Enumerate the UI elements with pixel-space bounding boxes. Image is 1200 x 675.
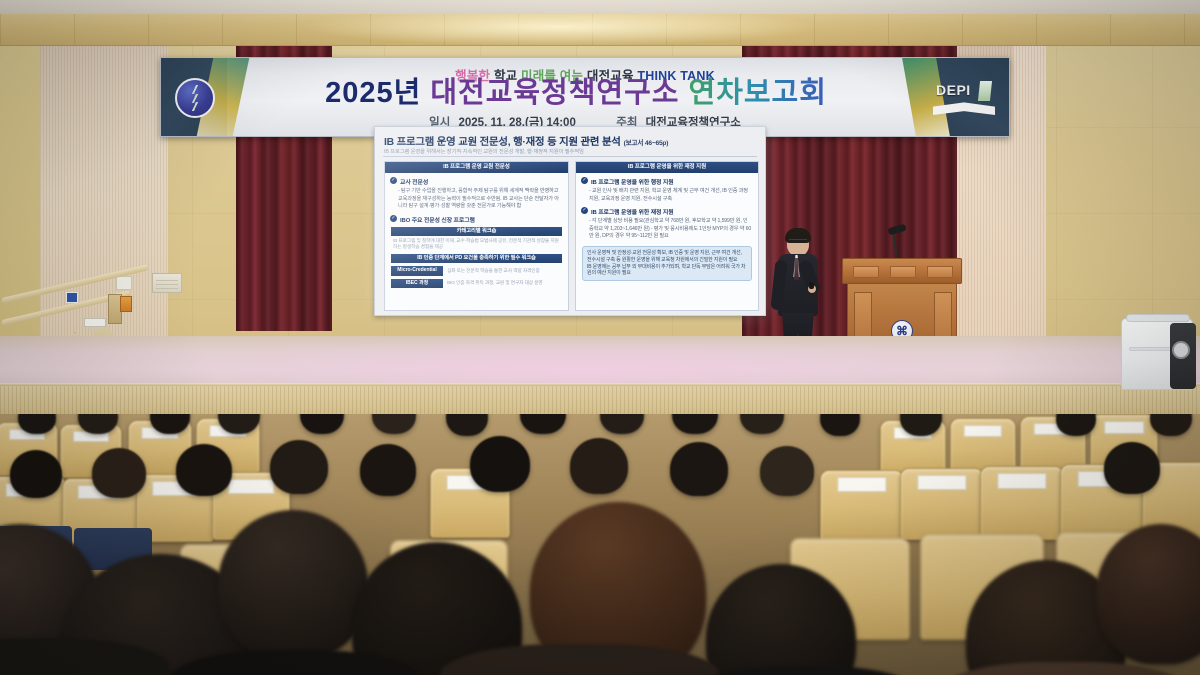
event-banner: DEPI 행복한 학교 미래를 여는 대전교육 THINK TANK 2025년… — [160, 57, 1010, 137]
slide-left-row-2: IBEC 과정 IBO 인증 자격 취득 과정, 교원 및 연구자 대상 운영 — [385, 276, 568, 289]
attendee-head — [672, 414, 718, 434]
attendee-head — [740, 414, 784, 434]
seat-name-card — [997, 473, 1046, 489]
attendee-head — [670, 442, 728, 496]
slide-divider — [383, 156, 757, 157]
purifier-top — [1126, 314, 1190, 322]
open-book-icon — [933, 101, 995, 115]
slide-right-item-1-body: - 교원 인사 및 배치 관련 지원, 학교 운영 체계 및 근무 여건 개선,… — [576, 186, 758, 203]
banner-main-title: 2025년 대전교육정책연구소 연차보고회 — [227, 76, 925, 110]
seat-name-card — [964, 425, 1002, 437]
slide-right-column: IB 프로그램 운영을 위한 재정 지원 ✓ IB 프로그램 운영을 위한 행정… — [575, 161, 759, 311]
slide-left-item-1: ✓ 교사 전문성 — [385, 173, 568, 186]
attendee-head — [1104, 442, 1160, 494]
check-icon: ✓ — [581, 207, 588, 214]
glasses-icon — [789, 239, 807, 243]
check-icon: ✓ — [390, 215, 397, 222]
attendee-head — [270, 440, 328, 494]
attendee-head — [92, 448, 146, 498]
slide-left-row-1-desc: 심화 또는 전문적 학습을 통한 교사 역량 자격인증 — [447, 266, 562, 274]
slide-left-header: IB 프로그램 운영 교원 전문성 — [385, 162, 568, 173]
auditorium-scene: DEPI 행복한 학교 미래를 여는 대전교육 THINK TANK 2025년… — [0, 0, 1200, 675]
slide-right-item-2-heading: IB 프로그램 운영을 위한 재정 지원 — [591, 207, 674, 216]
seat[interactable] — [900, 468, 984, 540]
projection-screen: IB 프로그램 운영 교원 전문성, 행·재정 등 지원 관련 분석(보고서 4… — [374, 126, 766, 316]
attendee-head — [176, 444, 232, 496]
depi-logo-text: DEPI — [936, 82, 971, 98]
slide-left-tag-1: 카테고리별 워크숍 IB 프로그램 및 철학에 대한 이해, 교수·학습법 모범… — [385, 224, 568, 251]
slide-left-item-2-heading: IBO 주요 전문성 신장 프로그램 — [400, 215, 475, 224]
accessibility-sign-icon — [66, 292, 78, 303]
attendee-head — [372, 414, 416, 434]
air-purifier-unit — [1121, 318, 1193, 390]
daejeon-education-seal-icon — [175, 78, 215, 118]
seat-name-card — [917, 475, 966, 490]
slide-left-tag-2: IB 인증 단계에서 PD 요건을 충족하기 위한 필수 워크숍 — [385, 251, 568, 264]
book-page-icon — [978, 81, 992, 101]
slide-right-item-2: ✓ IB 프로그램 운영을 위한 재정 지원 — [576, 203, 758, 216]
attendee-head — [300, 414, 344, 434]
seat-name-card — [837, 477, 886, 492]
slide-left-row-2-label: IBEC 과정 — [391, 279, 443, 289]
slide-left-item-2: ✓ IBO 주요 전문성 신장 프로그램 — [385, 211, 568, 224]
seat[interactable] — [820, 470, 904, 542]
check-icon: ✓ — [390, 177, 397, 184]
slide-left-item-1-heading: 교사 전문성 — [400, 177, 428, 186]
banner-title-org: 대전교육정책연구소 — [430, 77, 679, 109]
slide-title: IB 프로그램 운영 교원 전문성, 행·재정 등 지원 관련 분석(보고서 4… — [384, 133, 757, 148]
slide-right-callout-line-1: 인사 운영적 및 안정성·교원 전문성 확보, IB 인증 및 운영 지원, 근… — [587, 250, 747, 264]
slide-right-item-1: ✓ IB 프로그램 운영을 위한 행정 지원 — [576, 173, 758, 186]
slide-title-reference: (보고서 46~65p) — [624, 140, 669, 147]
lift-instruction-label — [84, 318, 106, 327]
podium-top-panel — [853, 266, 879, 278]
slide-subtitle: IB 프로그램 운영을 위해서는 장기적·지속적인 교원의 전문성 개발, 행·… — [384, 147, 757, 155]
wall-vent — [152, 273, 182, 293]
slide-left-tag-1-label: 카테고리별 워크숍 — [391, 227, 562, 237]
banner-title-year: 2025년 — [325, 77, 421, 109]
attendee-head-foreground — [218, 510, 368, 660]
purifier-vent-slot — [1129, 347, 1173, 351]
slide-left-item-1-body: - 탐구 기반 수업을 진행하고, 융합적 주제 탐구를 위해 세계적 맥락을 … — [385, 186, 568, 211]
attendee-head — [520, 414, 566, 434]
seat-name-card — [228, 479, 274, 494]
attendee-head — [760, 446, 814, 496]
check-icon: ✓ — [581, 177, 588, 184]
podium-top-panel — [890, 266, 916, 278]
left-panel-shadow — [40, 46, 168, 236]
slide-right-item-2-body: - 각 단계별 상당 비용 필요(관심학교 약 768만 원, 후보학교 약 1… — [576, 216, 758, 241]
attendee-head — [570, 438, 628, 494]
slide-left-row-2-desc: IBO 인증 자격 취득 과정, 교원 및 연구자 대상 운영 — [447, 279, 562, 287]
slide-left-column: IB 프로그램 운영 교원 전문성 ✓ 교사 전문성 - 탐구 기반 수업을 진… — [384, 161, 569, 311]
slide-right-callout: 인사 운영적 및 안정성·교원 전문성 확보, IB 인증 및 운영 지원, 근… — [582, 246, 752, 281]
attendee-head — [820, 414, 860, 436]
podium-top-panel — [927, 266, 953, 278]
presentation-clicker-icon — [809, 282, 814, 289]
lift-control-panel[interactable] — [120, 296, 132, 312]
attendee-head — [600, 414, 644, 434]
slide-left-row-1-label: Micro-Credential — [391, 266, 443, 276]
seat[interactable] — [980, 466, 1064, 540]
slide-left-tag-1-desc: IB 프로그램 및 철학에 대한 이해, 교수·학습법 모범사례 공유, 전문적… — [391, 236, 562, 250]
attendee-head — [470, 436, 530, 492]
attendee-head — [10, 450, 62, 498]
purifier-dial-icon — [1172, 341, 1190, 359]
slide-left-tag-2-label: IB 인증 단계에서 PD 요건을 충족하기 위한 필수 워크숍 — [391, 254, 562, 264]
slide-left-row-1: Micro-Credential 심화 또는 전문적 학습을 통한 교사 역량 … — [385, 263, 568, 276]
slide-right-item-1-heading: IB 프로그램 운영을 위한 행정 지원 — [591, 177, 674, 186]
banner-title-event: 연차보고회 — [689, 77, 827, 109]
attendee-head — [360, 444, 416, 496]
slide-right-callout-line-2: IB 운영에는 공무 납부 외 부대비용이 추가되며, 학교 단독 부담은 어려… — [587, 264, 747, 278]
seat-name-card — [1104, 421, 1144, 434]
audience-seating-area — [0, 414, 1200, 675]
depi-logo: DEPI — [933, 81, 995, 115]
slide-right-header: IB 프로그램 운영을 위한 재정 지원 — [576, 162, 758, 173]
podium-top — [842, 258, 962, 284]
ceiling-light-glow — [300, 14, 820, 46]
attendee-head — [446, 414, 488, 436]
